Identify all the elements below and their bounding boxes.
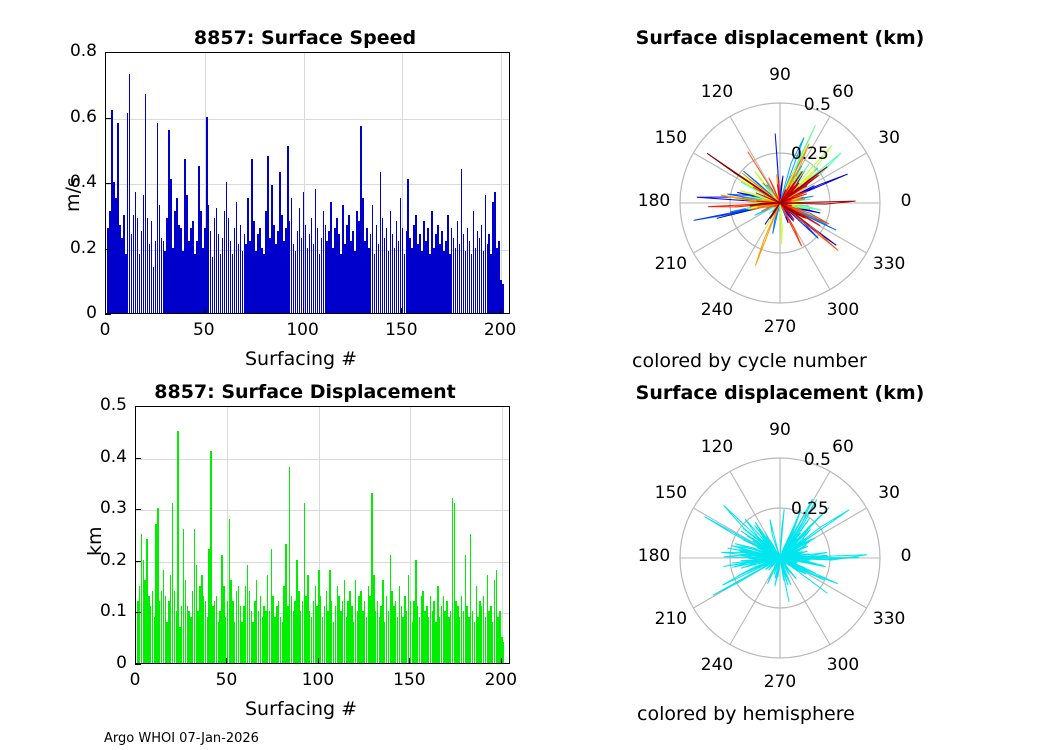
gridline-h [106, 119, 509, 120]
displacement-chart-title: 8857: Surface Displacement [80, 381, 530, 403]
polar-hemisphere-angle-label: 330 [865, 609, 913, 629]
polar-hemisphere-angle-label: 210 [647, 609, 695, 629]
polar-cycle-ray [780, 203, 792, 204]
footer-credit: Argo WHOI 07-Jan-2026 [104, 731, 259, 746]
gridline-v [501, 53, 502, 313]
displacement-ytick: 0 [0, 653, 127, 673]
polar-hemisphere-r-label: 0.25 [791, 499, 829, 519]
polar-cycle-angle-label: 120 [693, 82, 741, 102]
polar-hemisphere-caption: colored by hemisphere [637, 703, 855, 725]
displacement-x-axis-label: Surfacing # [245, 698, 357, 720]
tick-mark [105, 314, 111, 315]
tick-mark [105, 249, 111, 250]
tick-mark [204, 308, 205, 314]
polar-cycle-angle-label: 240 [693, 300, 741, 320]
polar-cycle-title: Surface displacement (km) [595, 27, 965, 49]
speed-xtick: 100 [281, 320, 325, 340]
tick-mark [135, 612, 141, 613]
displacement-xtick: 150 [387, 670, 431, 690]
tick-mark [303, 308, 304, 314]
polar-cycle-angle-label: 210 [647, 254, 695, 274]
displacement-ytick: 0.3 [0, 498, 127, 518]
polar-cycle-angle-label: 150 [647, 128, 695, 148]
tick-mark [105, 118, 111, 119]
polar-cycle-ray [756, 203, 781, 266]
tick-mark [105, 308, 106, 314]
polar-cycle-angle-label: 270 [756, 317, 804, 337]
speed-ytick: 0.6 [0, 107, 97, 127]
displacement-xtick: 200 [479, 670, 523, 690]
displacement-xtick: 100 [296, 670, 340, 690]
speed-ytick: 0.8 [0, 41, 97, 61]
tick-mark [105, 183, 111, 184]
speed-bar [502, 284, 504, 313]
polar-cycle-caption: colored by cycle number [632, 350, 867, 372]
polar-hemisphere-angle-label: 0 [882, 546, 930, 566]
speed-chart-title: 8857: Surface Speed [100, 27, 510, 49]
tick-mark [500, 308, 501, 314]
tick-mark [135, 664, 141, 665]
polar-cycle-r-label: 0.25 [791, 144, 829, 164]
polar-hemisphere-angle-label: 270 [756, 672, 804, 692]
tick-mark [135, 509, 141, 510]
displacement-ytick: 0.4 [0, 447, 127, 467]
speed-xtick: 50 [182, 320, 226, 340]
polar-cycle-r-label: 0.5 [804, 95, 831, 115]
polar-cycle-angle-label: 330 [865, 254, 913, 274]
displacement-xtick: 50 [204, 670, 248, 690]
speed-ytick: 0.2 [0, 238, 97, 258]
gridline-h [106, 184, 509, 185]
speed-x-axis-label: Surfacing # [245, 348, 357, 370]
gridline-h [136, 459, 509, 460]
gridline-v [502, 407, 503, 663]
tick-mark [135, 458, 141, 459]
displacement-ytick: 0.1 [0, 601, 127, 621]
tick-mark [409, 658, 410, 664]
tick-mark [318, 658, 319, 664]
polar-cycle-angle-label: 180 [630, 191, 678, 211]
tick-mark [135, 561, 141, 562]
speed-plot-area [105, 52, 510, 314]
displacement-ytick: 0.2 [0, 550, 127, 570]
displacement-plot-area [135, 406, 510, 664]
polar-hemisphere-r-label: 0.5 [804, 450, 831, 470]
polar-hemisphere-angle-label: 90 [756, 420, 804, 440]
tick-mark [135, 406, 141, 407]
speed-xtick: 200 [478, 320, 522, 340]
tick-mark [401, 308, 402, 314]
polar-hemisphere-angle-label: 240 [693, 655, 741, 675]
polar-hemisphere-angle-label: 300 [819, 655, 867, 675]
polar-hemisphere-angle-label: 30 [865, 483, 913, 503]
speed-xtick: 150 [379, 320, 423, 340]
displacement-xtick: 0 [113, 670, 157, 690]
displacement-ytick: 0.5 [0, 395, 127, 415]
polar-cycle-angle-label: 0 [882, 191, 930, 211]
polar-hemisphere-angle-label: 150 [647, 483, 695, 503]
speed-xtick: 0 [83, 320, 127, 340]
displacement-bar [503, 642, 504, 663]
tick-mark [135, 658, 136, 664]
speed-ytick: 0.4 [0, 172, 97, 192]
polar-cycle-angle-label: 300 [819, 300, 867, 320]
polar-hemisphere-angle-label: 180 [630, 546, 678, 566]
tick-mark [226, 658, 227, 664]
polar-cycle-angle-label: 90 [756, 65, 804, 85]
polar-hemisphere-title: Surface displacement (km) [595, 382, 965, 404]
polar-cycle-angle-label: 30 [865, 128, 913, 148]
tick-mark [501, 658, 502, 664]
tick-mark [105, 52, 111, 53]
polar-hemisphere-angle-label: 120 [693, 437, 741, 457]
